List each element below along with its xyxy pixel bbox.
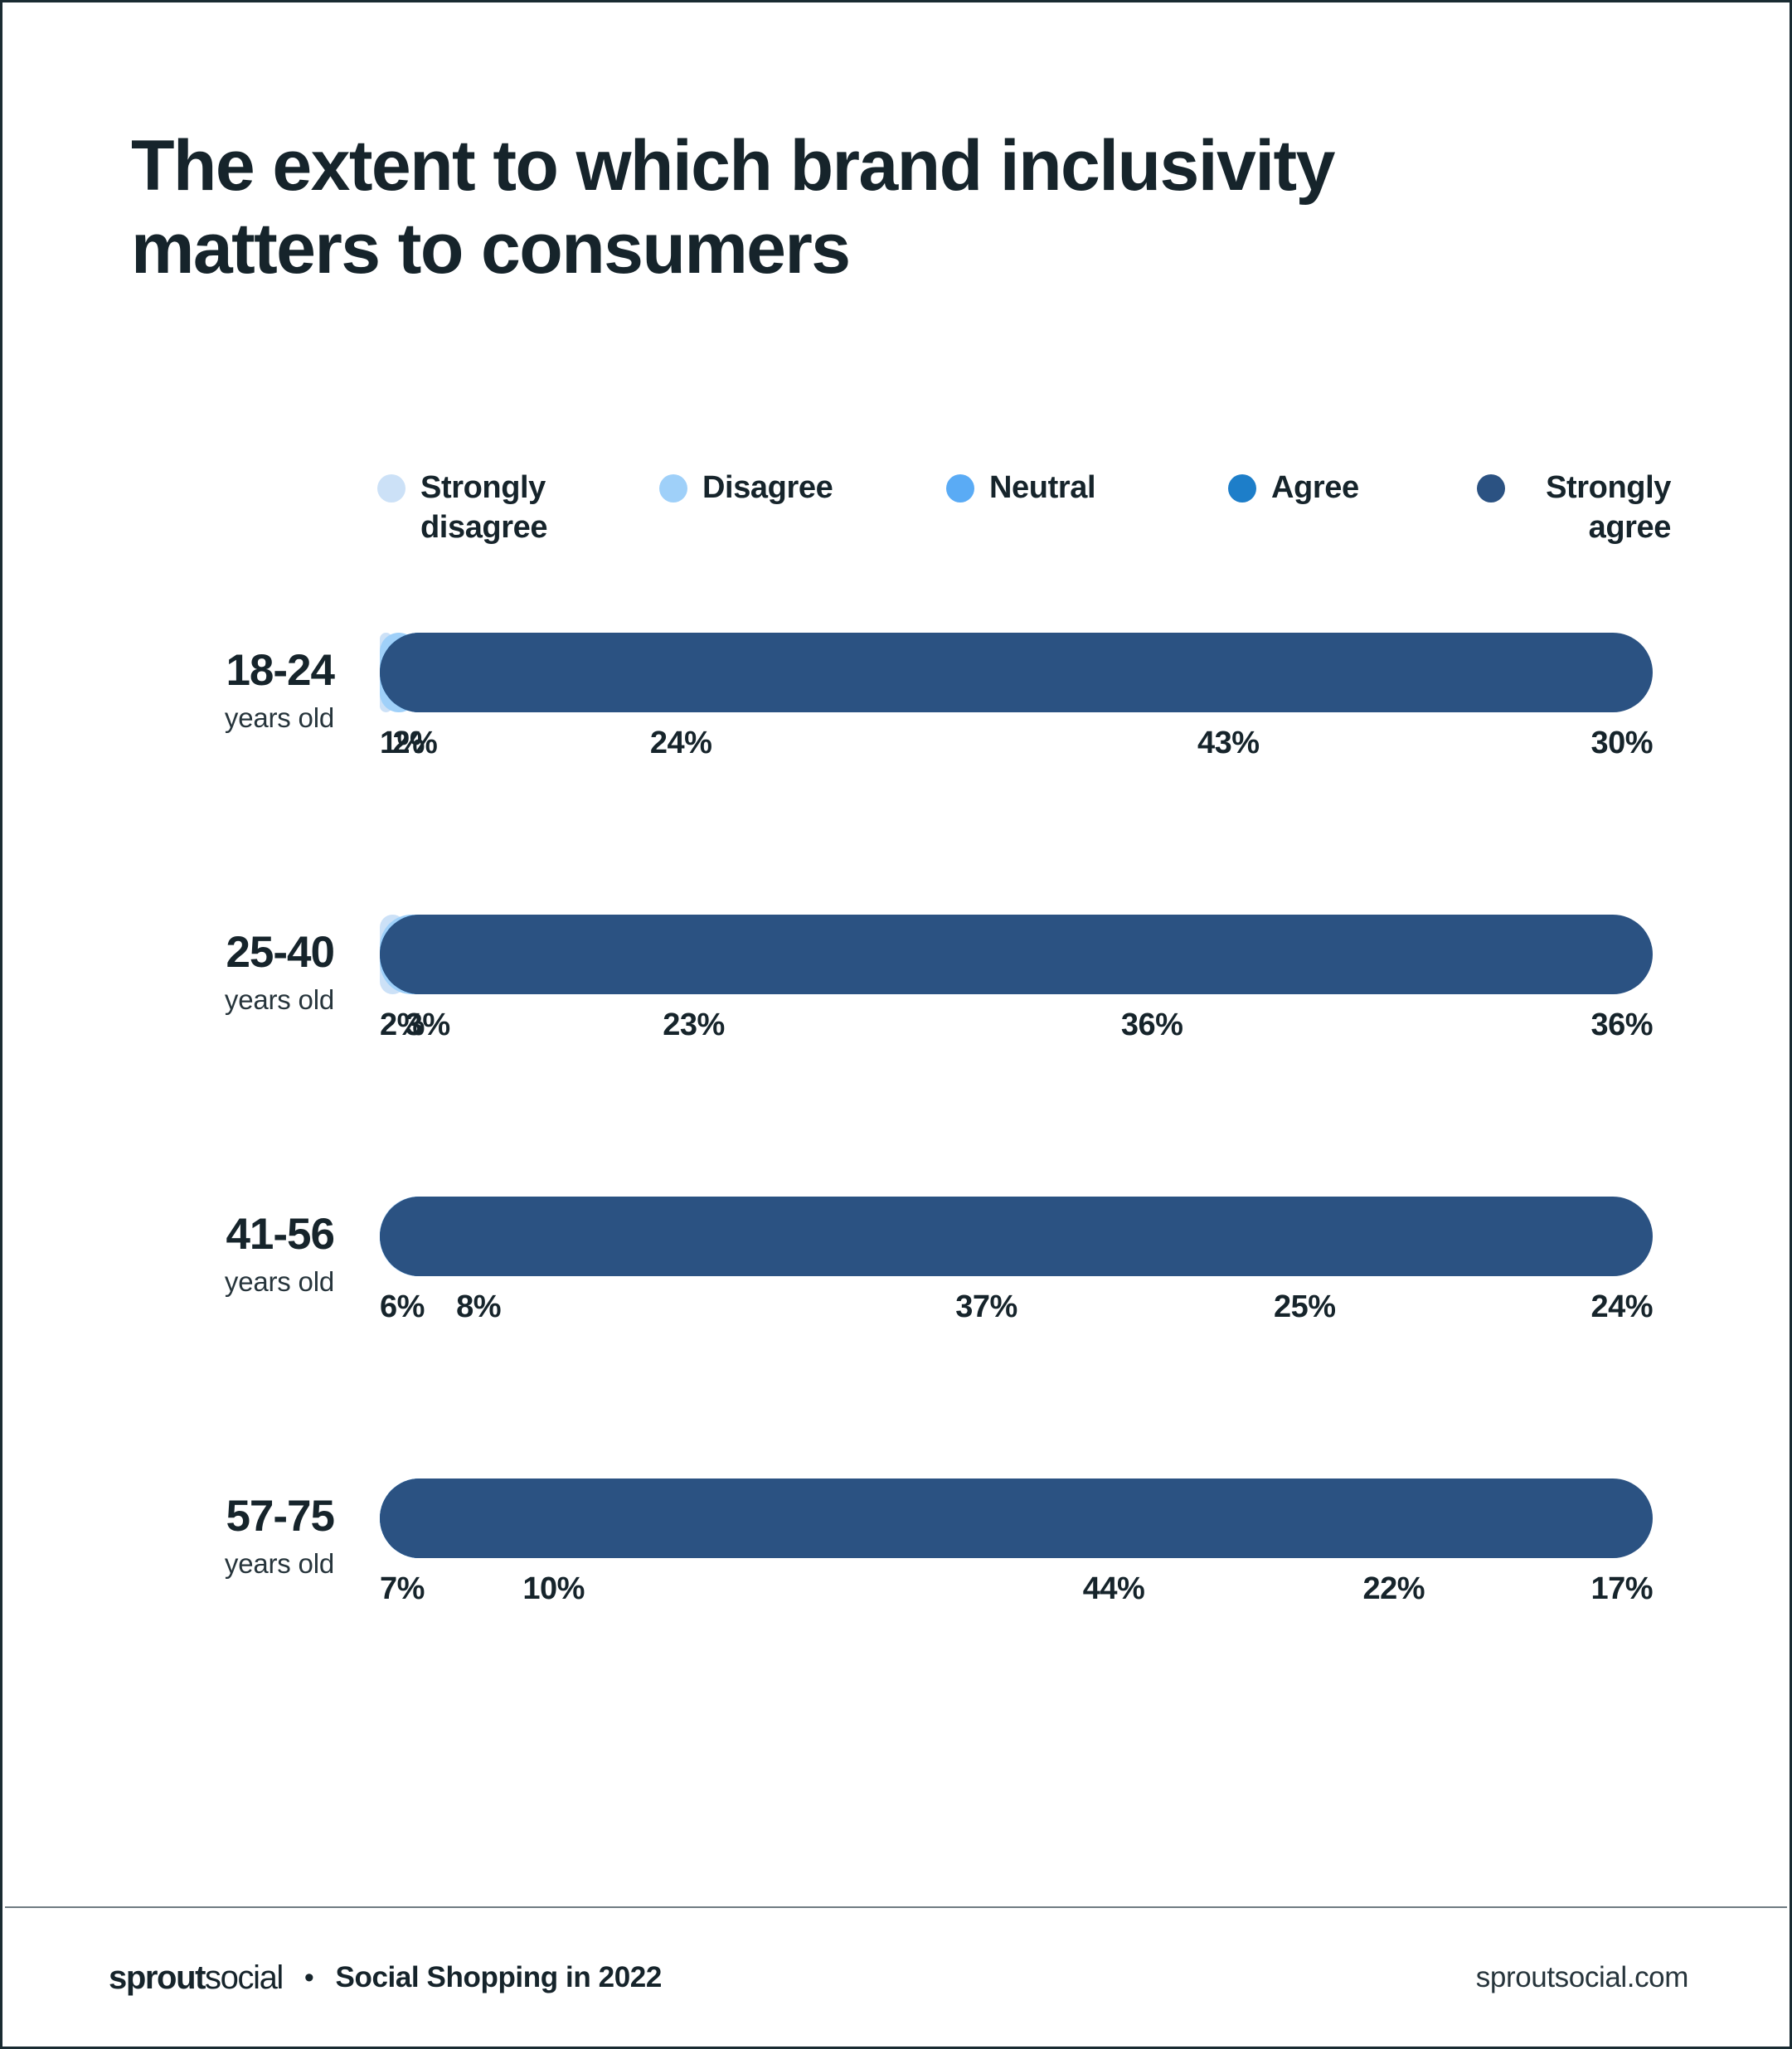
chart-row: 18-24years old1%2%24%43%30% (2, 633, 1792, 915)
chart-legend: Strongly disagreeDisagreeNeutralAgreeStr… (377, 469, 1671, 547)
legend-label-disagree: Disagree (702, 469, 833, 508)
sprout-social-logo: sproutsocial (109, 1959, 283, 1997)
bar-segment-strongly-agree (380, 633, 1653, 712)
legend-swatch-strongly-disagree-icon (377, 474, 406, 503)
footer-caption: Social Shopping in 2022 (336, 1961, 662, 1994)
bar-value-label: 30% (1590, 726, 1653, 761)
row-age-range: 41-56 (102, 1211, 334, 1258)
bar-track (380, 915, 1653, 994)
row-age-range: 25-40 (102, 930, 334, 976)
row-age-unit: years old (102, 1548, 334, 1580)
logo-bold-text: sprout (109, 1959, 205, 1996)
row-age-unit: years old (102, 1266, 334, 1298)
bar-value-labels: 2%3%23%36%36% (380, 1008, 1653, 1057)
row-label: 18-24years old (102, 648, 334, 734)
row-age-unit: years old (102, 984, 334, 1016)
bar-value-labels: 6%8%37%25%24% (380, 1289, 1653, 1339)
bar-value-label: 36% (380, 1008, 1194, 1043)
bar-value-labels: 7%10%44%22%17% (380, 1571, 1653, 1621)
legend-item-disagree: Disagree (659, 469, 946, 508)
chart-row: 25-40years old2%3%23%36%36% (2, 915, 1792, 1197)
bar-segment-strongly-agree (380, 915, 1653, 994)
bar-value-label: 36% (1590, 1008, 1653, 1043)
bar-value-label: 22% (380, 1571, 1436, 1607)
legend-label-neutral: Neutral (989, 469, 1095, 508)
chart-row: 57-75years old7%10%44%22%17% (2, 1478, 1792, 1760)
title-block: The extent to which brand inclusivity ma… (131, 125, 1590, 291)
legend-item-strongly-agree: Strongly agree (1477, 469, 1671, 547)
legend-swatch-agree-icon (1228, 474, 1256, 503)
bar-value-labels: 1%2%24%43%30% (380, 726, 1653, 775)
row-age-range: 57-75 (102, 1493, 334, 1540)
bar-value-label: 25% (380, 1289, 1348, 1325)
row-label: 57-75years old (102, 1493, 334, 1580)
legend-item-neutral: Neutral (946, 469, 1228, 508)
bar-value-label: 24% (1590, 1289, 1653, 1325)
row-age-unit: years old (102, 702, 334, 734)
bar-track (380, 1478, 1653, 1558)
row-label: 25-40years old (102, 930, 334, 1016)
legend-label-strongly-agree: Strongly agree (1520, 469, 1671, 547)
legend-label-agree: Agree (1271, 469, 1359, 508)
bar-segment-strongly-agree (380, 1478, 1653, 1558)
stacked-bar (380, 1478, 1653, 1570)
legend-label-strongly-disagree: Strongly disagree (420, 469, 595, 547)
page-title: The extent to which brand inclusivity ma… (131, 125, 1590, 291)
stacked-bar (380, 633, 1653, 724)
footer-url: sproutsocial.com (1476, 1961, 1688, 1994)
row-age-range: 18-24 (102, 648, 334, 694)
bar-segment-strongly-agree (380, 1197, 1653, 1276)
footer-left: sproutsocial • Social Shopping in 2022 (109, 1959, 662, 1997)
legend-swatch-neutral-icon (946, 474, 974, 503)
infographic-page: The extent to which brand inclusivity ma… (0, 0, 1792, 2049)
bullet-separator-icon: • (304, 1964, 314, 1992)
legend-swatch-disagree-icon (659, 474, 687, 503)
chart-rows: 18-24years old1%2%24%43%30%25-40years ol… (2, 633, 1792, 1760)
bar-track (380, 633, 1653, 712)
stacked-bar (380, 915, 1653, 1006)
bar-track (380, 1197, 1653, 1276)
chart-row: 41-56years old6%8%37%25%24% (2, 1197, 1792, 1478)
legend-swatch-strongly-agree-icon (1477, 474, 1505, 503)
row-label: 41-56years old (102, 1211, 334, 1298)
stacked-bar (380, 1197, 1653, 1288)
footer: sproutsocial • Social Shopping in 2022 s… (2, 1906, 1792, 2049)
legend-item-strongly-disagree: Strongly disagree (377, 469, 659, 547)
bar-value-label: 43% (380, 726, 1271, 761)
logo-light-text: social (205, 1959, 283, 1996)
bar-value-label: 17% (1590, 1571, 1653, 1607)
legend-item-agree: Agree (1228, 469, 1477, 508)
